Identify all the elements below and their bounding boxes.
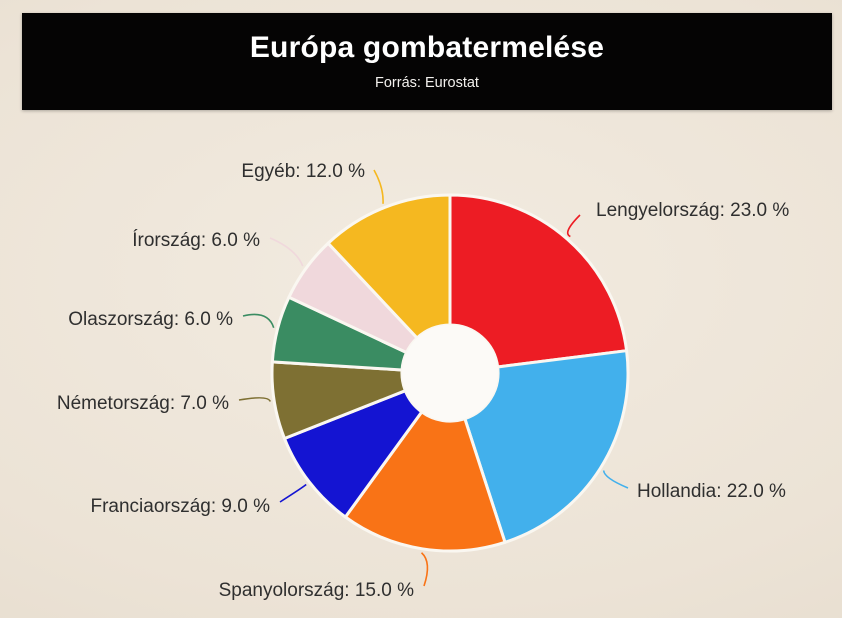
- donut-center-hole: [402, 325, 498, 421]
- slice-label-lengyelorszag: Lengyelország: 23.0 %: [596, 201, 789, 220]
- title-banner: Európa gombatermelése Forrás: Eurostat: [22, 13, 832, 110]
- leader-line: [239, 398, 270, 402]
- slice-label-egyeb: Egyéb: 12.0 %: [0, 162, 365, 181]
- page-title: Európa gombatermelése: [22, 31, 832, 65]
- leader-line: [374, 170, 383, 204]
- leader-line: [270, 238, 303, 266]
- leader-line: [422, 553, 428, 586]
- slice-label-olaszorszag: Olaszország: 6.0 %: [0, 310, 233, 329]
- leader-line: [280, 485, 306, 502]
- leader-line: [243, 314, 274, 327]
- chart-screenshot: Európa gombatermelése Forrás: Eurostat L…: [0, 0, 842, 618]
- slice-label-hollandia: Hollandia: 22.0 %: [637, 482, 786, 501]
- slice-label-nemetorszag: Németország: 7.0 %: [0, 394, 229, 413]
- slice-label-franciaorszag: Franciaország: 9.0 %: [0, 497, 270, 516]
- page-subtitle-source: Forrás: Eurostat: [22, 75, 832, 91]
- slice-label-irorszag: Írország: 6.0 %: [0, 231, 260, 250]
- donut-chart-svg: [0, 110, 842, 618]
- leader-line: [604, 471, 628, 488]
- donut-chart: Lengyelország: 23.0 % Hollandia: 22.0 % …: [0, 110, 842, 618]
- leader-line: [568, 215, 580, 236]
- slice-label-spanyolorszag: Spanyolország: 15.0 %: [0, 581, 414, 600]
